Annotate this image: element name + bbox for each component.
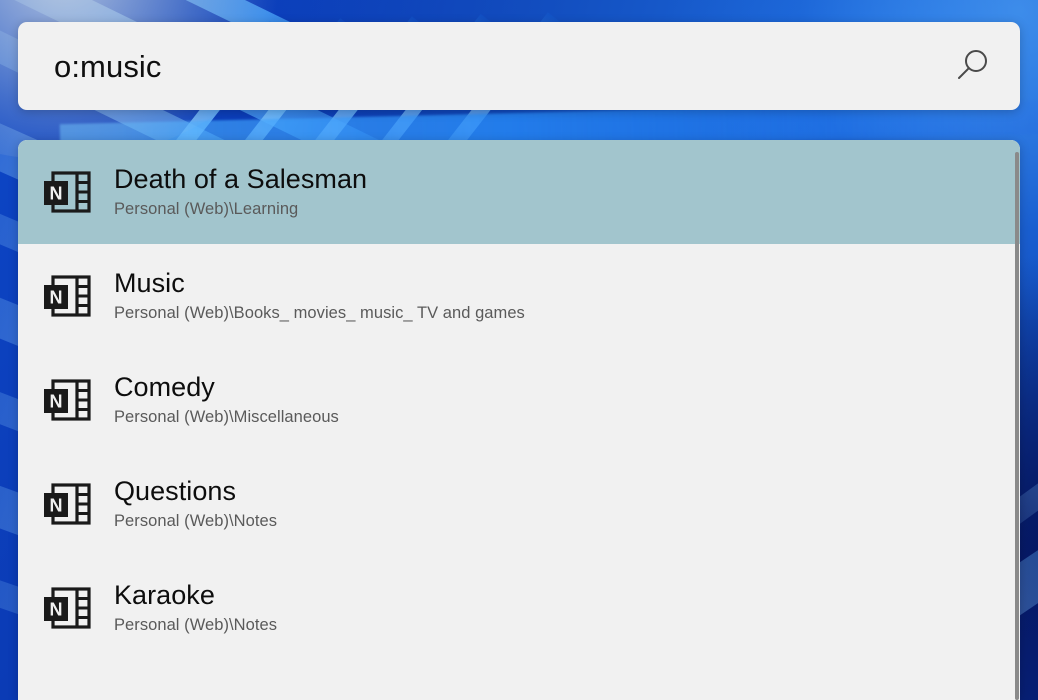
result-title: Karaoke (114, 580, 1020, 610)
result-subtitle: Personal (Web)\Notes (114, 614, 1020, 636)
result-row[interactable]: N Comedy Personal (Web)\Miscellaneous (18, 348, 1020, 452)
result-row[interactable]: N Karaoke Personal (Web)\Notes (18, 556, 1020, 660)
result-title: Comedy (114, 372, 1020, 402)
result-text-column: Death of a Salesman Personal (Web)\Learn… (114, 164, 1020, 221)
result-subtitle: Personal (Web)\Books_ movies_ music_ TV … (114, 302, 1020, 324)
result-row[interactable]: N Death of a Salesman Personal (Web)\Lea… (18, 140, 1020, 244)
onenote-icon: N (40, 585, 94, 631)
result-title: Death of a Salesman (114, 164, 1020, 194)
svg-text:N: N (50, 600, 63, 620)
svg-text:N: N (50, 184, 63, 204)
search-input[interactable]: o:music (54, 51, 946, 82)
onenote-icon: N (40, 481, 94, 527)
onenote-icon: N (40, 273, 94, 319)
result-subtitle: Personal (Web)\Notes (114, 510, 1020, 532)
svg-text:N: N (50, 288, 63, 308)
result-text-column: Comedy Personal (Web)\Miscellaneous (114, 372, 1020, 429)
result-row[interactable]: N Questions Personal (Web)\Notes (18, 452, 1020, 556)
result-subtitle: Personal (Web)\Miscellaneous (114, 406, 1020, 428)
onenote-icon: N (40, 377, 94, 423)
svg-text:N: N (50, 496, 63, 516)
onenote-icon: N (40, 169, 94, 215)
search-icon[interactable] (946, 40, 998, 92)
search-results-panel: N Death of a Salesman Personal (Web)\Lea… (18, 140, 1020, 700)
result-row[interactable]: N Music Personal (Web)\Books_ movies_ mu… (18, 244, 1020, 348)
result-title: Music (114, 268, 1020, 298)
svg-text:N: N (50, 392, 63, 412)
result-text-column: Music Personal (Web)\Books_ movies_ musi… (114, 268, 1020, 325)
result-text-column: Questions Personal (Web)\Notes (114, 476, 1020, 533)
result-title: Questions (114, 476, 1020, 506)
scrollbar-thumb[interactable] (1015, 152, 1019, 700)
results-scrollbar[interactable] (1014, 152, 1020, 700)
search-bar[interactable]: o:music (18, 22, 1020, 110)
result-subtitle: Personal (Web)\Learning (114, 198, 1020, 220)
result-text-column: Karaoke Personal (Web)\Notes (114, 580, 1020, 637)
